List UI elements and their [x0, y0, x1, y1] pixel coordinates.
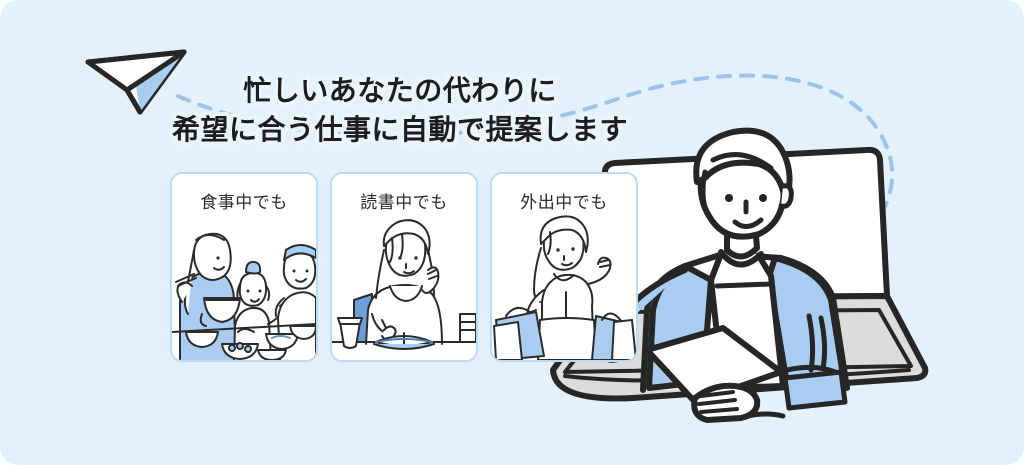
card-label: 外出中でも — [492, 188, 636, 213]
card-reading[interactable]: 読書中でも — [330, 172, 478, 362]
promo-banner: 食事中でも — [0, 0, 1024, 465]
card-outing[interactable]: 外出中でも — [490, 172, 638, 362]
paper-plane-icon — [80, 38, 200, 118]
card-label: 食事中でも — [172, 188, 316, 213]
card-meal[interactable]: 食事中でも — [170, 172, 318, 362]
card-label: 読書中でも — [332, 188, 476, 213]
